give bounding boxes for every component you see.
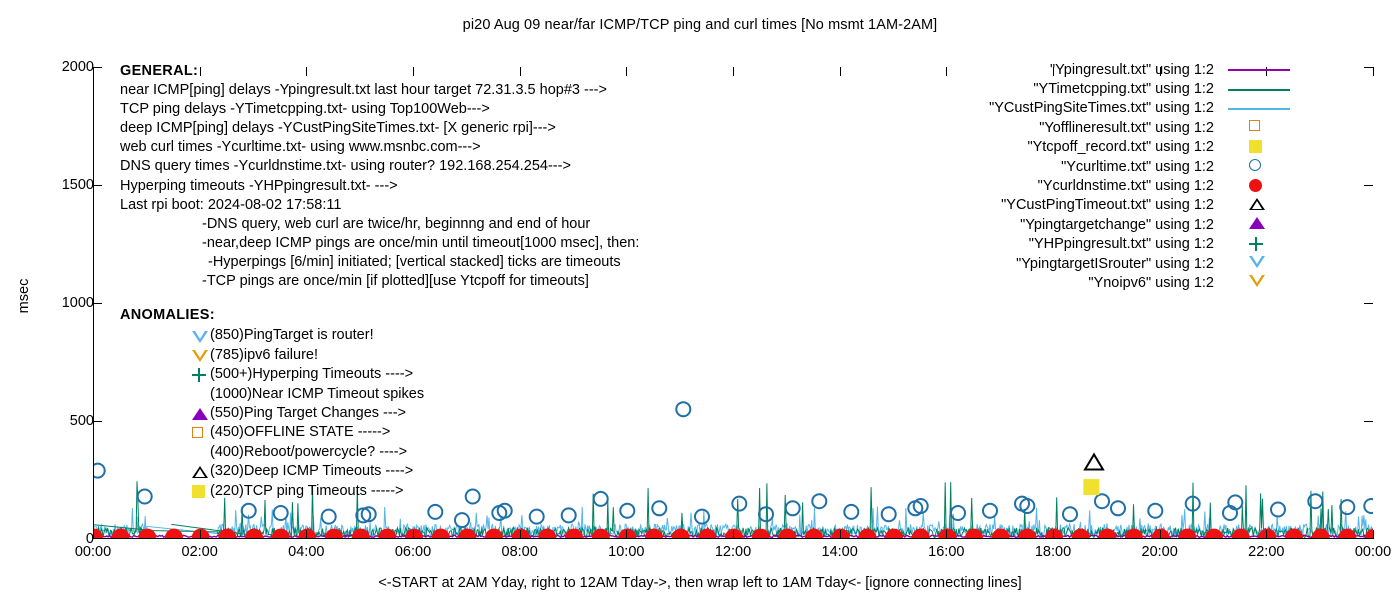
curl-time-marker bbox=[652, 501, 666, 515]
square-filled-icon bbox=[1249, 140, 1262, 153]
anomaly-label: (450)OFFLINE STATE -----> bbox=[210, 423, 390, 442]
anomaly-label: (850)PingTarget is router! bbox=[210, 326, 374, 345]
x-tick-label: 18:00 bbox=[1013, 545, 1093, 560]
general-line: Last rpi boot: 2024-08-02 17:58:11 bbox=[120, 196, 639, 215]
general-line: near ICMP[ping] delays -Ypingresult.txt … bbox=[120, 81, 639, 100]
triangle-down-open-icon bbox=[192, 331, 208, 343]
square-open-icon bbox=[1249, 120, 1260, 131]
y-tick-label-500: 500 bbox=[0, 414, 94, 429]
legend-item[interactable]: "Ypingtargetchange" using 1:2 bbox=[1000, 215, 1300, 234]
triangle-up-open-icon bbox=[192, 466, 208, 478]
legend-item-marker bbox=[1222, 254, 1300, 273]
anomaly-marker bbox=[190, 462, 210, 481]
curl-time-marker bbox=[786, 501, 800, 515]
anomaly-item: (500+)Hyperping Timeouts ----> bbox=[120, 365, 424, 384]
x-tick-mark bbox=[93, 530, 94, 539]
curl-time-marker bbox=[812, 494, 826, 508]
curl-time-marker bbox=[1271, 503, 1285, 517]
x-tick-label: 22:00 bbox=[1226, 545, 1306, 560]
legend-item[interactable]: "Ycurldnstime.txt" using 1:2 bbox=[1000, 176, 1300, 195]
y-tick-label-1000: 1000 bbox=[0, 296, 94, 311]
legend-item-marker bbox=[1222, 138, 1300, 157]
curl-time-marker bbox=[983, 504, 997, 518]
x-tick-mark bbox=[520, 530, 521, 539]
curl-time-marker bbox=[695, 510, 709, 524]
chart-legend: "Ypingresult.txt" using 1:2"YTimetcpping… bbox=[1000, 60, 1300, 293]
curl-time-marker bbox=[844, 505, 858, 519]
y-tick-label-1500: 1500 bbox=[0, 178, 94, 193]
square-open-icon bbox=[192, 427, 203, 438]
legend-item-marker bbox=[1222, 60, 1300, 79]
x-tick-label: 12:00 bbox=[693, 545, 773, 560]
legend-item-marker bbox=[1222, 157, 1300, 176]
curl-time-marker bbox=[620, 504, 634, 518]
legend-line-swatch bbox=[1228, 108, 1290, 110]
general-line: web curl times -Ycurltime.txt- using www… bbox=[120, 138, 639, 157]
legend-item-label: "Yofflineresult.txt" using 1:2 bbox=[1039, 120, 1214, 136]
legend-item-label: "Ycurldnstime.txt" using 1:2 bbox=[1038, 178, 1214, 194]
curl-time-marker bbox=[322, 510, 336, 524]
general-sub-line: -DNS query, web curl are twice/hr, begin… bbox=[120, 215, 639, 234]
anomaly-item: (220)TCP ping Timeouts -----> bbox=[120, 482, 424, 501]
anomalies-list: (850)PingTarget is router!(785)ipv6 fail… bbox=[120, 326, 424, 501]
square-filled-icon bbox=[192, 485, 205, 498]
curl-time-marker bbox=[1095, 494, 1109, 508]
legend-item-marker bbox=[1222, 80, 1300, 99]
x-tick-label: 00:00 bbox=[1333, 545, 1400, 560]
legend-item-marker bbox=[1222, 99, 1300, 118]
general-line: TCP ping delays -YTimetcpping.txt- using… bbox=[120, 100, 639, 119]
anomaly-label: (550)Ping Target Changes ---> bbox=[210, 404, 406, 423]
anomaly-marker bbox=[190, 346, 210, 365]
curl-time-marker bbox=[428, 505, 442, 519]
legend-item-label: "Ypingtargetchange" using 1:2 bbox=[1020, 217, 1214, 233]
x-tick-mark bbox=[413, 530, 414, 539]
curl-time-marker bbox=[455, 513, 469, 527]
legend-item[interactable]: "YpingtargetISrouter" using 1:2 bbox=[1000, 254, 1300, 273]
triangle-down-open-orange-icon bbox=[192, 350, 208, 362]
triangle-up-filled-icon bbox=[192, 408, 208, 420]
anomaly-marker bbox=[190, 424, 210, 443]
legend-item-marker bbox=[1222, 235, 1300, 254]
legend-item[interactable]: "Ynoipv6" using 1:2 bbox=[1000, 273, 1300, 292]
y-tick-label-2000: 2000 bbox=[0, 60, 94, 75]
triangle-up-filled-icon bbox=[1249, 217, 1265, 229]
legend-item-label: "Ypingresult.txt" using 1:2 bbox=[1050, 62, 1214, 78]
plus-icon bbox=[192, 368, 206, 382]
dns-time-marker bbox=[672, 529, 690, 538]
curl-time-marker bbox=[274, 506, 288, 520]
anomaly-marker bbox=[190, 443, 210, 462]
x-tick-mark bbox=[1160, 530, 1161, 539]
chart-page: pi20 Aug 09 near/far ICMP/TCP ping and c… bbox=[0, 0, 1400, 600]
anomaly-item: (320)Deep ICMP Timeouts ----> bbox=[120, 462, 424, 481]
x-tick-mark bbox=[200, 530, 201, 539]
legend-item[interactable]: "YCustPingSiteTimes.txt" using 1:2 bbox=[1000, 99, 1300, 118]
cust-ping-timeout-marker bbox=[1085, 454, 1103, 469]
x-tick-label: 14:00 bbox=[800, 545, 880, 560]
circle-open-icon bbox=[1249, 159, 1261, 171]
x-tick-label: 16:00 bbox=[906, 545, 986, 560]
curl-time-marker bbox=[562, 508, 576, 522]
anomaly-label: (785)ipv6 failure! bbox=[210, 346, 318, 365]
legend-item[interactable]: "Ypingresult.txt" using 1:2 bbox=[1000, 60, 1300, 79]
x-tick-mark bbox=[840, 530, 841, 539]
x-tick-mark bbox=[733, 530, 734, 539]
curl-time-marker bbox=[676, 402, 690, 416]
anomaly-label: (500+)Hyperping Timeouts ----> bbox=[210, 365, 413, 384]
circle-filled-icon bbox=[1249, 179, 1262, 192]
anomaly-label: (400)Reboot/powercycle? ----> bbox=[210, 443, 407, 462]
general-line: DNS query times -Ycurldnstime.txt- using… bbox=[120, 157, 639, 176]
anomaly-marker bbox=[190, 385, 210, 404]
legend-item-label: "Ycurltime.txt" using 1:2 bbox=[1061, 159, 1214, 175]
anomaly-item: (450)OFFLINE STATE -----> bbox=[120, 423, 424, 442]
x-tick-mark bbox=[1373, 530, 1374, 539]
x-axis-caption: <-START at 2AM Yday, right to 12AM Tday-… bbox=[0, 575, 1400, 591]
x-tick-label: 04:00 bbox=[266, 545, 346, 560]
legend-item[interactable]: "Ytcpoff_record.txt" using 1:2 bbox=[1000, 138, 1300, 157]
x-tick-label: 06:00 bbox=[373, 545, 453, 560]
legend-item-label: "Ytcpoff_record.txt" using 1:2 bbox=[1027, 139, 1214, 155]
legend-item[interactable]: "Yofflineresult.txt" using 1:2 bbox=[1000, 118, 1300, 137]
curl-time-marker bbox=[732, 497, 746, 511]
general-sub-line: -Hyperpings [6/min] initiated; [vertical… bbox=[120, 253, 639, 272]
x-tick-label: 10:00 bbox=[586, 545, 666, 560]
legend-item-marker bbox=[1222, 273, 1300, 292]
curl-time-marker bbox=[594, 492, 608, 506]
anomaly-marker bbox=[190, 482, 210, 501]
anomaly-label: (320)Deep ICMP Timeouts ----> bbox=[210, 462, 413, 481]
legend-item-label: "Ynoipv6" using 1:2 bbox=[1088, 275, 1214, 291]
curl-time-marker bbox=[1148, 504, 1162, 518]
curl-time-marker bbox=[1340, 500, 1354, 514]
legend-item-marker bbox=[1222, 196, 1300, 215]
general-notes: GENERAL: near ICMP[ping] delays -Ypingre… bbox=[120, 62, 639, 291]
legend-item[interactable]: "Ycurltime.txt" using 1:2 bbox=[1000, 157, 1300, 176]
x-tick-mark-top bbox=[840, 67, 841, 76]
legend-item[interactable]: "YCustPingTimeout.txt" using 1:2 bbox=[1000, 196, 1300, 215]
curl-time-marker bbox=[1020, 499, 1034, 513]
legend-line-swatch bbox=[1228, 69, 1290, 71]
curl-time-marker bbox=[94, 464, 105, 478]
curl-time-marker bbox=[1111, 501, 1125, 515]
x-tick-label: 02:00 bbox=[160, 545, 240, 560]
curl-time-marker bbox=[1364, 499, 1373, 513]
legend-item-marker bbox=[1222, 215, 1300, 234]
curl-time-marker bbox=[498, 504, 512, 518]
anomaly-marker bbox=[190, 365, 210, 384]
legend-item-label: "YCustPingSiteTimes.txt" using 1:2 bbox=[989, 100, 1214, 116]
anomaly-marker bbox=[190, 327, 210, 346]
legend-item-label: "YTimetcpping.txt" using 1:2 bbox=[1033, 81, 1214, 97]
anomaly-item: (400)Reboot/powercycle? ----> bbox=[120, 443, 424, 462]
x-tick-mark-top bbox=[946, 67, 947, 76]
anomaly-label: (1000)Near ICMP Timeout spikes bbox=[210, 385, 424, 404]
x-tick-mark-top bbox=[1373, 67, 1374, 76]
tcp-off-marker bbox=[1083, 479, 1099, 495]
anomaly-item: (785)ipv6 failure! bbox=[120, 346, 424, 365]
dns-time-marker bbox=[752, 529, 770, 538]
x-tick-mark bbox=[306, 530, 307, 539]
anomaly-item: (850)PingTarget is router! bbox=[120, 326, 424, 345]
triangle-up-open-icon bbox=[1249, 198, 1265, 210]
anomaly-marker bbox=[190, 404, 210, 423]
legend-list: "Ypingresult.txt" using 1:2"YTimetcpping… bbox=[1000, 60, 1300, 293]
legend-item-label: "YHPpingresult.txt" using 1:2 bbox=[1029, 236, 1214, 252]
x-tick-mark-top bbox=[93, 67, 94, 76]
anomalies-notes: ANOMALIES: (850)PingTarget is router!(78… bbox=[120, 306, 424, 501]
curl-time-marker bbox=[951, 506, 965, 520]
anomalies-heading: ANOMALIES: bbox=[120, 306, 424, 325]
legend-item-label: "YCustPingTimeout.txt" using 1:2 bbox=[1001, 197, 1214, 213]
x-tick-mark bbox=[946, 530, 947, 539]
triangle-down-open-icon bbox=[1249, 256, 1265, 268]
curl-time-marker bbox=[914, 499, 928, 513]
x-tick-mark bbox=[626, 530, 627, 539]
legend-item[interactable]: "YTimetcpping.txt" using 1:2 bbox=[1000, 79, 1300, 98]
general-line: deep ICMP[ping] delays -YCustPingSiteTim… bbox=[120, 119, 639, 138]
legend-item-label: "YpingtargetISrouter" using 1:2 bbox=[1016, 256, 1214, 272]
dns-time-marker bbox=[485, 529, 503, 538]
dns-time-marker bbox=[192, 529, 210, 538]
anomaly-item: (1000)Near ICMP Timeout spikes bbox=[120, 385, 424, 404]
legend-item-marker bbox=[1222, 118, 1300, 137]
triangle-down-open-orange-icon bbox=[1249, 275, 1265, 287]
x-tick-label: 20:00 bbox=[1120, 545, 1200, 560]
general-line: Hyperping timeouts -YHPpingresult.txt- -… bbox=[120, 177, 639, 196]
legend-item[interactable]: "YHPpingresult.txt" using 1:2 bbox=[1000, 235, 1300, 254]
general-heading: GENERAL: bbox=[120, 62, 639, 81]
curl-time-marker bbox=[882, 507, 896, 521]
x-tick-mark bbox=[1053, 530, 1054, 539]
anomaly-label: (220)TCP ping Timeouts -----> bbox=[210, 482, 404, 501]
anomaly-item: (550)Ping Target Changes ---> bbox=[120, 404, 424, 423]
x-tick-label: 08:00 bbox=[480, 545, 560, 560]
general-sub-line: -near,deep ICMP pings are once/min until… bbox=[120, 234, 639, 253]
page-title: pi20 Aug 09 near/far ICMP/TCP ping and c… bbox=[0, 17, 1400, 33]
general-sub-line: -TCP pings are once/min [if plotted][use… bbox=[120, 272, 639, 291]
curl-time-marker bbox=[1063, 507, 1077, 521]
curl-time-marker bbox=[530, 510, 544, 524]
x-tick-label: 00:00 bbox=[53, 545, 133, 560]
legend-line-swatch bbox=[1228, 89, 1290, 91]
curl-time-marker bbox=[466, 490, 480, 504]
x-tick-mark-top bbox=[733, 67, 734, 76]
plus-icon bbox=[1249, 237, 1263, 251]
legend-item-marker bbox=[1222, 177, 1300, 196]
x-tick-mark bbox=[1266, 530, 1267, 539]
